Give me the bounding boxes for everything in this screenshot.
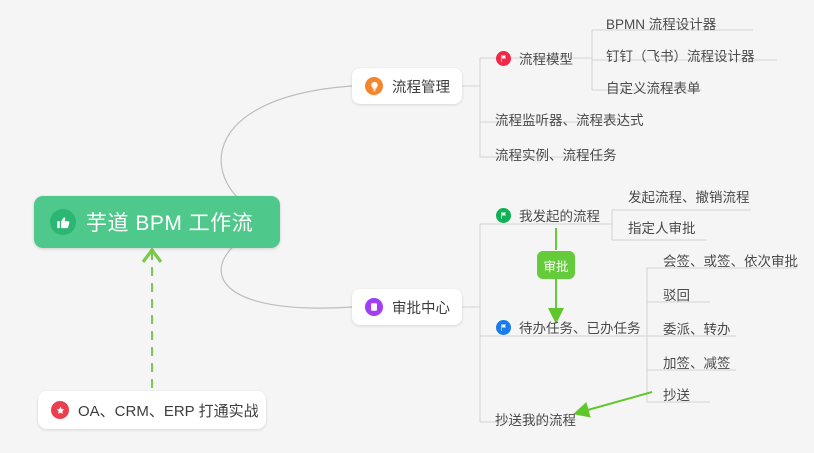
node-label-start-cancel-process: 发起流程、撤销流程 — [628, 186, 750, 206]
node-label-process-listener: 流程监听器、流程表达式 — [495, 109, 644, 129]
lightbulb-icon — [365, 77, 383, 95]
flag-icon — [496, 208, 511, 223]
node-label-process-instance: 流程实例、流程任务 — [495, 144, 617, 164]
branch-label-process-management: 流程管理 — [392, 76, 450, 97]
node-custom-form[interactable]: 自定义流程表单 — [600, 72, 711, 102]
node-process-instance[interactable]: 流程实例、流程任务 — [489, 139, 627, 169]
node-process-model[interactable]: 流程模型 — [490, 43, 583, 73]
node-label-countersign: 会签、或签、依次审批 — [663, 250, 798, 270]
star-icon — [51, 401, 69, 419]
node-label-delegate-transfer: 委派、转办 — [663, 318, 731, 338]
root-label: 芋道 BPM 工作流 — [86, 207, 253, 237]
node-dingtalk-designer[interactable]: 钉钉（飞书）流程设计器 — [600, 40, 765, 70]
node-label-process-model: 流程模型 — [519, 48, 573, 68]
node-label-dingtalk-designer: 钉钉（飞书）流程设计器 — [606, 45, 755, 65]
clipboard-icon — [365, 298, 383, 316]
root-node[interactable]: 芋道 BPM 工作流 — [34, 196, 280, 248]
node-add-remove-sign[interactable]: 加签、减签 — [657, 347, 741, 377]
mindmap-canvas: 芋道 BPM 工作流 流程管理 流程模型 BPMN 流程设计器 钉钉（飞书）流程… — [0, 0, 814, 453]
arrow-cc-to-my-flow — [577, 392, 652, 413]
node-bpmn-designer[interactable]: BPMN 流程设计器 — [600, 8, 726, 38]
branch-label-approval-center: 审批中心 — [392, 297, 450, 318]
node-label-bpmn-designer: BPMN 流程设计器 — [606, 13, 716, 33]
footnote-label: OA、CRM、ERP 打通实战 — [78, 400, 259, 421]
node-my-started-processes[interactable]: 我发起的流程 — [490, 200, 610, 230]
flag-icon — [496, 51, 511, 66]
node-cc-to-me[interactable]: 抄送我的流程 — [489, 404, 586, 434]
node-label-cc-to-me: 抄送我的流程 — [495, 409, 576, 429]
node-label-assignee-approval: 指定人审批 — [628, 217, 696, 237]
footnote-node[interactable]: OA、CRM、ERP 打通实战 — [38, 391, 266, 429]
node-label-add-remove-sign: 加签、减签 — [663, 352, 731, 372]
node-start-cancel-process[interactable]: 发起流程、撤销流程 — [622, 181, 760, 211]
node-label-cc: 抄送 — [663, 384, 690, 404]
node-process-listener[interactable]: 流程监听器、流程表达式 — [489, 104, 654, 134]
node-assignee-approval[interactable]: 指定人审批 — [622, 212, 706, 242]
node-todo-done-tasks[interactable]: 待办任务、已办任务 — [490, 312, 651, 342]
node-cc[interactable]: 抄送 — [657, 379, 700, 409]
branch-node-approval-center[interactable]: 审批中心 — [352, 289, 462, 325]
approve-badge: 审批 — [537, 251, 575, 279]
thumbs-up-icon — [50, 209, 76, 235]
branch-node-process-management[interactable]: 流程管理 — [352, 68, 462, 104]
node-reject[interactable]: 驳回 — [657, 279, 700, 309]
node-label-custom-form: 自定义流程表单 — [606, 77, 701, 97]
flag-icon — [496, 320, 511, 335]
node-label-my-started-processes: 我发起的流程 — [519, 205, 600, 225]
node-delegate-transfer[interactable]: 委派、转办 — [657, 313, 741, 343]
node-label-todo-done-tasks: 待办任务、已办任务 — [519, 317, 641, 337]
node-countersign[interactable]: 会签、或签、依次审批 — [657, 245, 808, 275]
node-label-reject: 驳回 — [663, 284, 690, 304]
approve-badge-label: 审批 — [543, 256, 568, 275]
